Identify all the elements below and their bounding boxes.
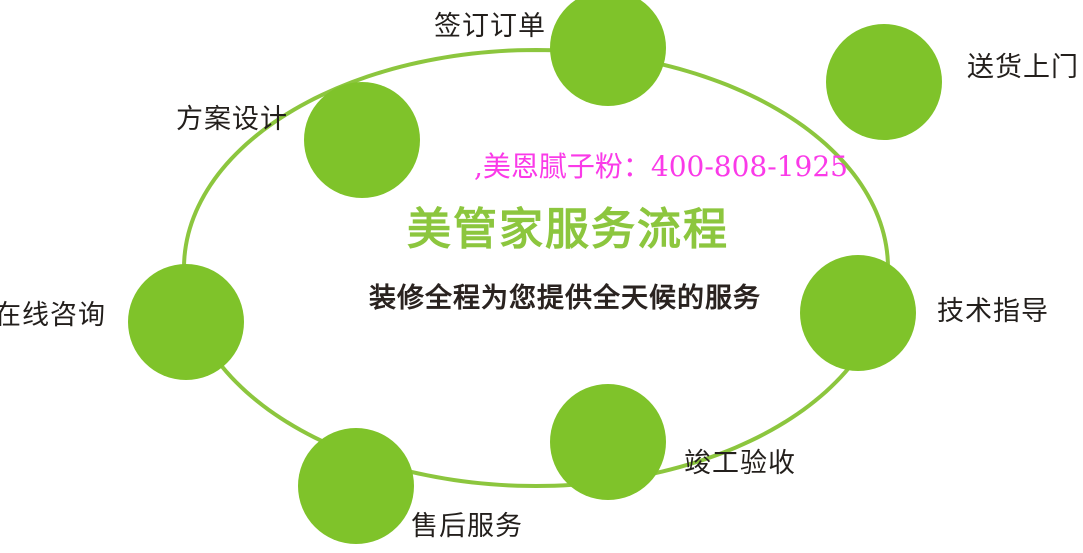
flow-node-n2[interactable]: [826, 24, 942, 140]
flow-ring-path: [184, 50, 888, 486]
service-flow-diagram: 签订订单送货上门技术指导竣工验收售后服务在线咨询方案设计 ,美恩腻子粉：400-…: [0, 0, 1083, 553]
page-title: 美管家服务流程: [407, 206, 729, 254]
flow-nodes: [128, 0, 942, 544]
flow-canvas: [0, 0, 1083, 553]
flow-node-label-n6: 在线咨询: [0, 302, 106, 329]
flow-node-label-n1: 签订订单: [434, 13, 546, 40]
flow-node-label-n2: 送货上门: [967, 54, 1079, 81]
flow-node-n6[interactable]: [128, 264, 244, 380]
flow-node-label-n4: 竣工验收: [684, 450, 796, 477]
flow-node-label-n3: 技术指导: [937, 298, 1049, 325]
promo-phone-line: ,美恩腻子粉：400-808-1925: [474, 152, 848, 183]
flow-node-label-n5: 售后服务: [411, 513, 523, 540]
flow-node-n4[interactable]: [550, 384, 666, 500]
flow-node-n5[interactable]: [298, 428, 414, 544]
flow-node-n1[interactable]: [550, 0, 666, 106]
page-subtitle: 装修全程为您提供全天候的服务: [369, 284, 761, 314]
flow-node-n7[interactable]: [304, 82, 420, 198]
flow-connector-ring: [184, 50, 888, 486]
flow-node-label-n7: 方案设计: [176, 106, 288, 133]
flow-node-n3[interactable]: [800, 255, 916, 371]
